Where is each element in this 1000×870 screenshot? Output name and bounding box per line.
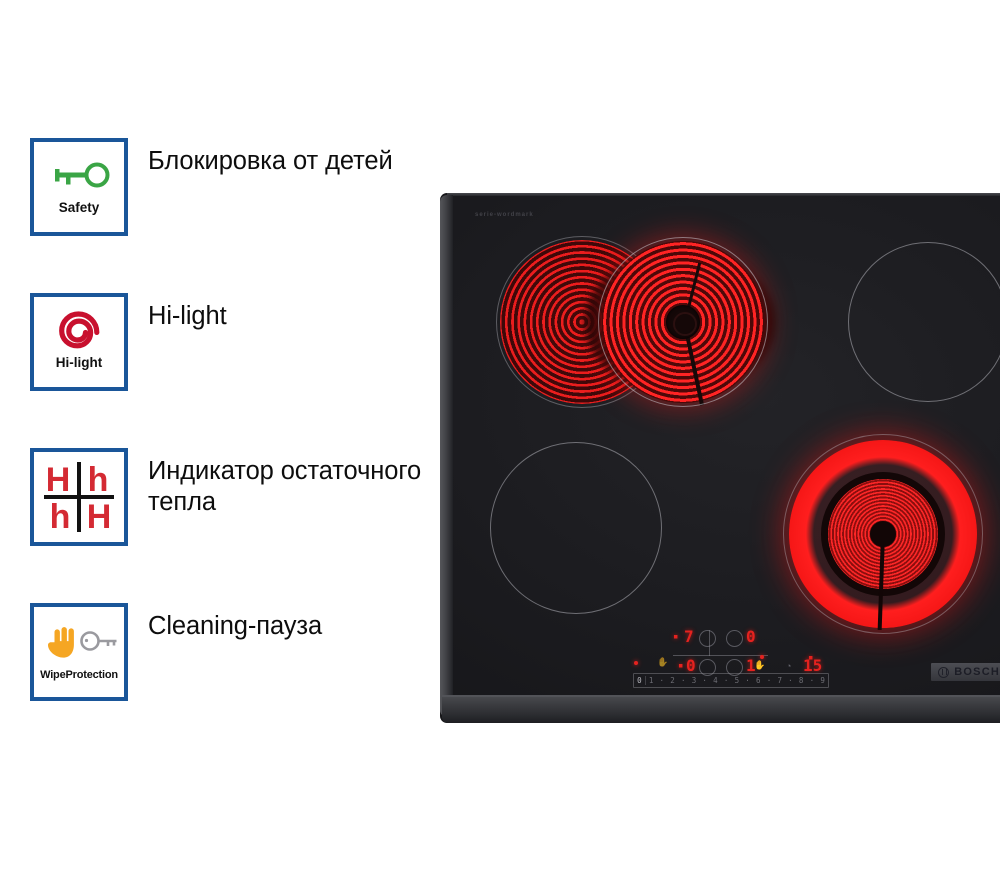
cooking-zone-rear-right [848, 242, 1000, 402]
rear-left-indicator-dot: ▪ [673, 633, 678, 642]
clock-icon: ◔ [786, 662, 791, 671]
wipe-icon: ✋ [657, 658, 668, 667]
slider-tick: 2 [667, 676, 678, 685]
badge-hilight: Hi-light [30, 293, 128, 391]
cooktop-product-image: serie-wordmark [440, 193, 1000, 728]
slider-tick: · [764, 676, 775, 685]
rear-left-touch-key[interactable] [699, 630, 716, 647]
control-panel[interactable]: ▪ 7 0 ✋ ▪ 0 1 ✋ ◔ [631, 628, 831, 696]
slider-tick: 5 [731, 676, 742, 685]
feature-label: Cleaning-пауза [148, 603, 322, 642]
badge-caption: WipeProtection [34, 670, 124, 681]
bosch-roundel-icon [938, 667, 949, 678]
badge-residual-heat: H h h H [30, 448, 128, 546]
zone-outline [783, 434, 983, 634]
feature-list: Safety Блокировка от детей Hi-light Hi-l… [0, 0, 440, 870]
rear-left-level-display: 7 [684, 629, 694, 645]
slider-tick: 4 [710, 676, 721, 685]
feature-label: Блокировка от детей [148, 138, 393, 177]
slider-tick: 6 [753, 676, 764, 685]
feature-item-safety: Safety Блокировка от детей [30, 138, 393, 236]
front-left-indicator-dot: ▪ [678, 662, 683, 671]
feature-item-residual-heat: H h h H Индикатор остаточного тепла [30, 448, 438, 546]
slider-tick: · [699, 676, 710, 685]
front-left-level-display: 0 [686, 658, 696, 674]
cooktop-left-bevel [440, 195, 453, 717]
status-dot [760, 655, 764, 659]
slider-tick: · [785, 676, 796, 685]
svg-text:H: H [46, 461, 71, 499]
cooking-zone-front-left [490, 442, 662, 614]
badge-caption: Safety [34, 201, 124, 215]
key-icon [82, 633, 117, 650]
bosch-logo: BOSCH [931, 663, 1000, 681]
power-icon[interactable] [634, 661, 638, 665]
red-spiral-icon [52, 306, 106, 356]
feature-item-wipeprotection: WipeProtection Cleaning-пауза [30, 603, 322, 701]
cooktop-top-bevel [447, 193, 1000, 196]
hand-icon: ✋ [754, 661, 765, 670]
cooktop-body: serie-wordmark [440, 193, 1000, 723]
feature-item-hilight: Hi-light Hi-light [30, 293, 227, 391]
slider-tick: 0 [634, 676, 645, 685]
badge-wipeprotection: WipeProtection [30, 603, 128, 701]
slider-tick: 3 [689, 676, 700, 685]
svg-text:h: h [88, 461, 109, 499]
serie-wordmark: serie-wordmark [475, 212, 534, 218]
rear-right-level-display: 0 [746, 629, 756, 645]
page-root: Safety Блокировка от детей Hi-light Hi-l… [0, 0, 1000, 870]
zone-outline [598, 237, 768, 407]
slider-tick: 9 [817, 676, 828, 685]
svg-text:h: h [50, 498, 71, 534]
slider-tick: · [656, 676, 667, 685]
slider-tick: · [807, 676, 818, 685]
hand-icon [48, 627, 74, 658]
svg-text:H: H [87, 498, 112, 534]
slider-tick: · [721, 676, 732, 685]
feature-label: Hi-light [148, 293, 227, 332]
cooking-zone-rear-middle [598, 237, 768, 407]
hand-and-key-icon [38, 616, 120, 670]
slider-tick: 1 [646, 676, 657, 685]
slider-tick: · [742, 676, 753, 685]
timer-display: 15 [803, 658, 822, 674]
power-slider[interactable]: 0 1 · 2 · 3 · 4 · 5 · 6 · 7 [633, 673, 829, 688]
green-key-icon [47, 151, 111, 201]
slider-tick: 8 [796, 676, 807, 685]
badge-caption: Hi-light [34, 356, 124, 370]
brand-name: BOSCH [954, 666, 1000, 678]
cooktop-front-bevel [442, 695, 1000, 723]
slider-tick: 7 [774, 676, 785, 685]
slider-tick: · [678, 676, 689, 685]
feature-label: Индикатор остаточного тепла [148, 448, 438, 518]
cooking-zone-front-right [783, 434, 983, 634]
rear-right-touch-key[interactable] [726, 630, 743, 647]
residual-heat-hh-icon: H h h H [40, 460, 118, 534]
glass-surface: serie-wordmark [453, 196, 1000, 695]
badge-safety: Safety [30, 138, 128, 236]
